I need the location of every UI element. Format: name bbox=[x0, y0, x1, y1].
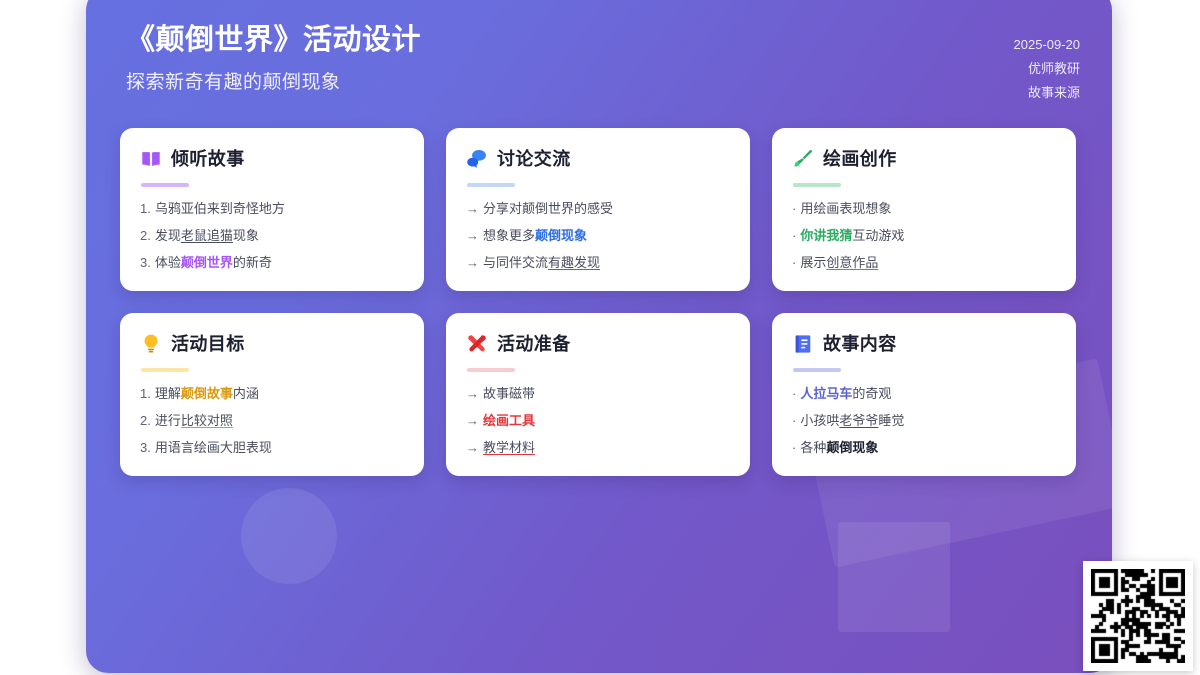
list-item-marker: → bbox=[466, 254, 479, 273]
list-item-text: 你讲我猜互动游戏 bbox=[800, 227, 904, 246]
card-title: 活动准备 bbox=[497, 335, 571, 353]
list-item-text: 用绘画表现想象 bbox=[800, 200, 891, 219]
list-item[interactable]: →绘画工具 bbox=[466, 412, 730, 431]
card-discussion[interactable]: 讨论交流→分享对颠倒世界的感受→想象更多颠倒现象→与同伴交流有趣发现 bbox=[446, 128, 750, 291]
text-segment: 与同伴交流 bbox=[483, 255, 548, 270]
closed-book-icon bbox=[792, 333, 814, 355]
slide-panel: 《颠倒世界》活动设计 探索新奇有趣的颠倒现象 2025-09-20 优师教研 故… bbox=[86, 0, 1112, 673]
text-segment: 老鼠追猫 bbox=[181, 228, 233, 243]
list-item[interactable]: ·小孩哄老爷爷睡觉 bbox=[792, 412, 1056, 431]
card-accent-bar bbox=[467, 368, 515, 372]
meta-source: 故事来源 bbox=[1014, 81, 1081, 105]
list-item-marker: · bbox=[792, 200, 796, 219]
list-item-marker: · bbox=[792, 439, 796, 458]
open-book-icon bbox=[140, 148, 162, 170]
list-item[interactable]: ·展示创意作品 bbox=[792, 254, 1056, 273]
list-item-marker: · bbox=[792, 254, 796, 273]
text-segment: 用绘画表现想象 bbox=[800, 201, 891, 216]
text-segment: 创意作品 bbox=[826, 255, 878, 270]
card-accent-bar bbox=[141, 368, 189, 372]
text-segment: 颠倒现象 bbox=[826, 440, 878, 455]
slide-header: 《颠倒世界》活动设计 探索新奇有趣的颠倒现象 2025-09-20 优师教研 故… bbox=[86, 0, 1112, 112]
card-accent-bar bbox=[467, 183, 515, 187]
card-title: 倾听故事 bbox=[171, 150, 245, 168]
list-item-text: 小孩哄老爷爷睡觉 bbox=[800, 412, 904, 431]
list-item[interactable]: →故事磁带 bbox=[466, 385, 730, 404]
text-segment: 故事磁带 bbox=[483, 386, 535, 401]
list-item[interactable]: 1.理解颠倒故事内涵 bbox=[140, 385, 404, 404]
text-segment: 理解 bbox=[155, 386, 181, 401]
list-item-marker: 2. bbox=[140, 412, 151, 431]
card-story-content[interactable]: 故事内容·人拉马车的奇观·小孩哄老爷爷睡觉·各种颠倒现象 bbox=[772, 313, 1076, 476]
card-accent-bar bbox=[793, 183, 841, 187]
text-segment: 互动游戏 bbox=[852, 228, 904, 243]
text-segment: 你讲我猜 bbox=[800, 228, 852, 243]
text-segment: 小孩哄 bbox=[800, 413, 839, 428]
list-item-text: 乌鸦亚伯来到奇怪地方 bbox=[155, 200, 285, 219]
list-item[interactable]: →与同伴交流有趣发现 bbox=[466, 254, 730, 273]
list-item[interactable]: 2.进行比较对照 bbox=[140, 412, 404, 431]
list-item[interactable]: ·你讲我猜互动游戏 bbox=[792, 227, 1056, 246]
title-block: 《颠倒世界》活动设计 探索新奇有趣的颠倒现象 bbox=[126, 22, 421, 94]
card-objectives[interactable]: 活动目标1.理解颠倒故事内涵2.进行比较对照3.用语言绘画大胆表现 bbox=[120, 313, 424, 476]
list-item-text: 故事磁带 bbox=[483, 385, 535, 404]
text-segment: 人拉马车 bbox=[800, 386, 852, 401]
text-segment: 现象 bbox=[233, 228, 259, 243]
card-accent-bar bbox=[141, 183, 189, 187]
paintbrush-icon bbox=[792, 148, 814, 170]
text-segment: 内涵 bbox=[233, 386, 259, 401]
text-segment: 体验 bbox=[155, 255, 181, 270]
card-title: 绘画创作 bbox=[823, 150, 897, 168]
text-segment: 想象更多 bbox=[483, 228, 535, 243]
list-item-marker: · bbox=[792, 412, 796, 431]
lightbulb-icon bbox=[140, 333, 162, 355]
card-header: 故事内容 bbox=[792, 331, 1056, 357]
text-segment: 有趣发现 bbox=[548, 255, 600, 270]
text-segment: 绘画工具 bbox=[483, 413, 535, 428]
card-title: 故事内容 bbox=[823, 335, 897, 353]
text-segment: 发现 bbox=[155, 228, 181, 243]
text-segment: 的新奇 bbox=[233, 255, 272, 270]
list-item-marker: · bbox=[792, 385, 796, 404]
list-item-marker: 1. bbox=[140, 385, 151, 404]
list-item-text: 教学材料 bbox=[483, 439, 535, 458]
qr-code-box[interactable] bbox=[1083, 561, 1193, 671]
screenshot-root: 《颠倒世界》活动设计 探索新奇有趣的颠倒现象 2025-09-20 优师教研 故… bbox=[0, 0, 1200, 675]
card-listen-story[interactable]: 倾听故事1.乌鸦亚伯来到奇怪地方2.发现老鼠追猫现象3.体验颠倒世界的新奇 bbox=[120, 128, 424, 291]
text-segment: 乌鸦亚伯来到奇怪地方 bbox=[155, 201, 285, 216]
list-item[interactable]: 3.用语言绘画大胆表现 bbox=[140, 439, 404, 458]
speech-bubbles-icon bbox=[466, 148, 488, 170]
list-item[interactable]: →分享对颠倒世界的感受 bbox=[466, 200, 730, 219]
text-segment: 的奇观 bbox=[852, 386, 891, 401]
list-item-text: 展示创意作品 bbox=[800, 254, 878, 273]
list-item[interactable]: →想象更多颠倒现象 bbox=[466, 227, 730, 246]
list-item-text: 想象更多颠倒现象 bbox=[483, 227, 587, 246]
list-item-marker: → bbox=[466, 385, 479, 404]
meta-org: 优师教研 bbox=[1014, 57, 1081, 81]
text-segment: 老爷爷 bbox=[839, 413, 878, 428]
meta-date: 2025-09-20 bbox=[1014, 33, 1081, 57]
card-grid: 倾听故事1.乌鸦亚伯来到奇怪地方2.发现老鼠追猫现象3.体验颠倒世界的新奇讨论交… bbox=[120, 128, 1078, 476]
list-item-marker: → bbox=[466, 200, 479, 219]
card-header: 倾听故事 bbox=[140, 146, 404, 172]
list-item-marker: · bbox=[792, 227, 796, 246]
qr-code-icon bbox=[1091, 569, 1185, 663]
text-segment: 用语言绘画大胆表现 bbox=[155, 440, 272, 455]
list-item-marker: → bbox=[466, 439, 479, 458]
decorative-circle bbox=[241, 488, 337, 584]
list-item-marker: 1. bbox=[140, 200, 151, 219]
text-segment: 展示 bbox=[800, 255, 826, 270]
card-item-list: 1.乌鸦亚伯来到奇怪地方2.发现老鼠追猫现象3.体验颠倒世界的新奇 bbox=[140, 200, 404, 273]
text-segment: 睡觉 bbox=[878, 413, 904, 428]
list-item[interactable]: →教学材料 bbox=[466, 439, 730, 458]
card-header: 活动目标 bbox=[140, 331, 404, 357]
list-item[interactable]: 2.发现老鼠追猫现象 bbox=[140, 227, 404, 246]
list-item-marker: 3. bbox=[140, 439, 151, 458]
list-item-text: 进行比较对照 bbox=[155, 412, 233, 431]
list-item-marker: 3. bbox=[140, 254, 151, 273]
list-item-text: 各种颠倒现象 bbox=[800, 439, 878, 458]
page-title: 《颠倒世界》活动设计 bbox=[126, 22, 421, 58]
list-item-marker: → bbox=[466, 412, 479, 431]
list-item-text: 理解颠倒故事内涵 bbox=[155, 385, 259, 404]
page-subtitle: 探索新奇有趣的颠倒现象 bbox=[126, 67, 421, 94]
card-title: 讨论交流 bbox=[497, 150, 571, 168]
list-item-text: 体验颠倒世界的新奇 bbox=[155, 254, 272, 273]
text-segment: 颠倒现象 bbox=[535, 228, 587, 243]
list-item-marker: 2. bbox=[140, 227, 151, 246]
text-segment: 教学材料 bbox=[483, 440, 535, 455]
card-accent-bar bbox=[793, 368, 841, 372]
card-item-list: ·用绘画表现想象·你讲我猜互动游戏·展示创意作品 bbox=[792, 200, 1056, 273]
list-item-text: 用语言绘画大胆表现 bbox=[155, 439, 272, 458]
list-item-text: 发现老鼠追猫现象 bbox=[155, 227, 259, 246]
card-header: 讨论交流 bbox=[466, 146, 730, 172]
list-item-text: 分享对颠倒世界的感受 bbox=[483, 200, 613, 219]
text-segment: 各种 bbox=[800, 440, 826, 455]
decorative-square bbox=[838, 522, 950, 632]
list-item[interactable]: ·用绘画表现想象 bbox=[792, 200, 1056, 219]
hammer-wrench-icon bbox=[466, 333, 488, 355]
text-segment: 进行 bbox=[155, 413, 181, 428]
card-drawing[interactable]: 绘画创作·用绘画表现想象·你讲我猜互动游戏·展示创意作品 bbox=[772, 128, 1076, 291]
list-item[interactable]: ·各种颠倒现象 bbox=[792, 439, 1056, 458]
card-item-list: ·人拉马车的奇观·小孩哄老爷爷睡觉·各种颠倒现象 bbox=[792, 385, 1056, 458]
list-item-text: 与同伴交流有趣发现 bbox=[483, 254, 600, 273]
text-segment: 比较对照 bbox=[181, 413, 233, 428]
text-segment: 颠倒故事 bbox=[181, 386, 233, 401]
card-preparation[interactable]: 活动准备→故事磁带→绘画工具→教学材料 bbox=[446, 313, 750, 476]
card-header: 活动准备 bbox=[466, 331, 730, 357]
list-item[interactable]: 1.乌鸦亚伯来到奇怪地方 bbox=[140, 200, 404, 219]
card-item-list: →故事磁带→绘画工具→教学材料 bbox=[466, 385, 730, 458]
list-item[interactable]: ·人拉马车的奇观 bbox=[792, 385, 1056, 404]
list-item[interactable]: 3.体验颠倒世界的新奇 bbox=[140, 254, 404, 273]
card-header: 绘画创作 bbox=[792, 146, 1056, 172]
text-segment: 颠倒世界 bbox=[181, 255, 233, 270]
list-item-marker: → bbox=[466, 227, 479, 246]
card-item-list: 1.理解颠倒故事内涵2.进行比较对照3.用语言绘画大胆表现 bbox=[140, 385, 404, 458]
list-item-text: 绘画工具 bbox=[483, 412, 535, 431]
header-meta: 2025-09-20 优师教研 故事来源 bbox=[1014, 33, 1081, 105]
text-segment: 分享对颠倒世界的感受 bbox=[483, 201, 613, 216]
list-item-text: 人拉马车的奇观 bbox=[800, 385, 891, 404]
card-item-list: →分享对颠倒世界的感受→想象更多颠倒现象→与同伴交流有趣发现 bbox=[466, 200, 730, 273]
card-title: 活动目标 bbox=[171, 335, 245, 353]
